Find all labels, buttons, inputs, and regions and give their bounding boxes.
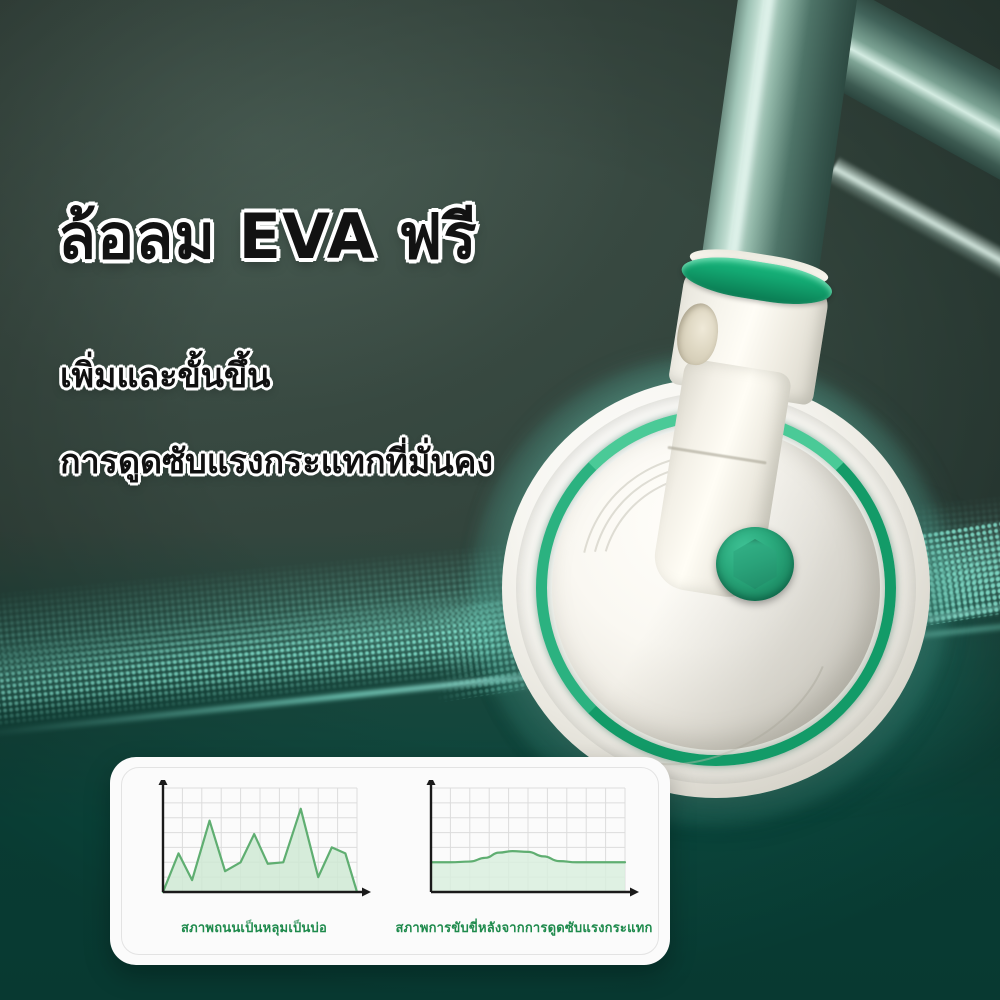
- subtitle-line-2: การดูดซับแรงกระแทกที่มั่นคง: [60, 434, 493, 488]
- chart-panel-inner-border: สภาพถนนเป็นหลุมเป็นบ่อ สภาพการขับขี่หลัง…: [121, 767, 659, 955]
- chart-after-absorption: [409, 780, 639, 915]
- comparison-chart-panel: สภาพถนนเป็นหลุมเป็นบ่อ สภาพการขับขี่หลัง…: [110, 757, 670, 965]
- chart-area-fill: [431, 851, 625, 892]
- chart-rough-road: [141, 780, 371, 915]
- chart-y-axis-arrow: [159, 780, 168, 785]
- axle-bolt-cap: [716, 527, 794, 601]
- chart-x-axis-arrow: [362, 888, 371, 897]
- page-title: ล้อลม EVA ฟรี: [58, 188, 478, 286]
- chart-x-axis-arrow: [630, 888, 639, 897]
- chart-cell-after-absorption: สภาพการขับขี่หลังจากการดูดซับแรงกระแทก: [390, 768, 658, 954]
- axle-hex-socket: [730, 539, 780, 589]
- subtitle-line-1: เพิ่มและขั้นขึ้น: [60, 348, 270, 402]
- frame-tube-diagonal-highlight: [825, 156, 1000, 308]
- chart-caption-after-absorption: สภาพการขับขี่หลังจากการดูดซับแรงกระแทก: [395, 917, 652, 938]
- chart-y-axis-arrow: [427, 780, 436, 785]
- chart-cell-rough-road: สภาพถนนเป็นหลุมเป็นบ่อ: [122, 768, 390, 954]
- product-banner: ล้อลม EVA ฟรี เพิ่มและขั้นขึ้น การดูดซับ…: [0, 0, 1000, 1000]
- chart-caption-rough-road: สภาพถนนเป็นหลุมเป็นบ่อ: [181, 917, 327, 938]
